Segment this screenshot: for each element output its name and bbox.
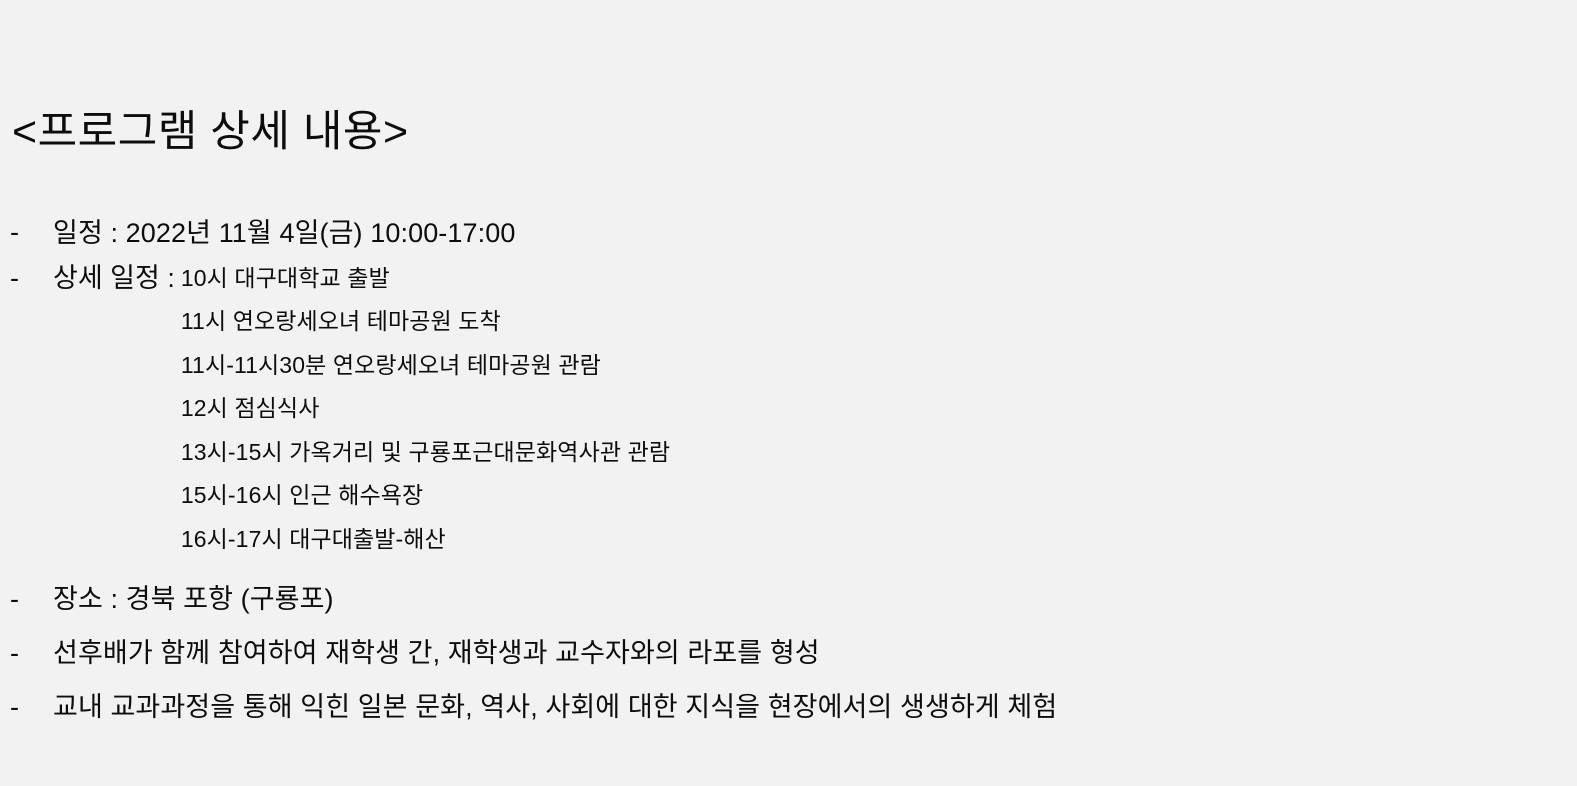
list-item-detail-schedule: - 상세 일정 : 10시 대구대학교 출발 11시 연오랑세오녀 테마공원 도… <box>0 256 1577 561</box>
document-page: <프로그램 상세 내용> - 일정 : 2022년 11월 4일(금) 10:0… <box>0 0 1577 786</box>
list-item: 13시-15시 가옥거리 및 구룡포근대문화역사관 관람 <box>181 431 670 475</box>
program-detail-list: - 일정 : 2022년 11월 4일(금) 10:00-17:00 - 상세 … <box>0 210 1577 734</box>
bullet-dash-icon: - <box>0 680 53 734</box>
list-item-objective-experience: - 교내 교과과정을 통해 익힌 일본 문화, 역사, 사회에 대한 지식을 현… <box>0 680 1577 734</box>
detail-schedule-label: 상세 일정 : <box>53 256 175 300</box>
list-item: 10시 대구대학교 출발 <box>181 256 670 300</box>
list-item: 15시-16시 인근 해수욕장 <box>181 474 670 518</box>
detail-schedule-items: 10시 대구대학교 출발 11시 연오랑세오녀 테마공원 도착 11시-11시3… <box>181 256 670 561</box>
bullet-dash-icon: - <box>0 210 53 254</box>
bullet-dash-icon: - <box>0 256 53 300</box>
objective-text: 선후배가 함께 참여하여 재학생 간, 재학생과 교수자와의 라포를 형성 <box>53 626 820 680</box>
bullet-dash-icon: - <box>0 572 53 626</box>
tail-bullets: - 장소 : 경북 포항 (구룡포) - 선후배가 함께 참여하여 재학생 간,… <box>0 572 1577 734</box>
list-item: 11시 연오랑세오녀 테마공원 도착 <box>181 300 670 344</box>
list-item: 11시-11시30분 연오랑세오녀 테마공원 관람 <box>181 344 670 388</box>
bullet-dash-icon: - <box>0 626 53 680</box>
list-item: 12시 점심식사 <box>181 387 670 431</box>
location-label: 장소 : 경북 포항 (구룡포) <box>53 572 334 626</box>
list-item-schedule: - 일정 : 2022년 11월 4일(금) 10:00-17:00 <box>0 210 1577 256</box>
schedule-label: 일정 : 2022년 11월 4일(금) 10:00-17:00 <box>53 210 515 256</box>
list-item-objective-rapport: - 선후배가 함께 참여하여 재학생 간, 재학생과 교수자와의 라포를 형성 <box>0 626 1577 680</box>
list-item: 16시-17시 대구대출발-해산 <box>181 518 670 562</box>
page-title: <프로그램 상세 내용> <box>12 107 409 159</box>
objective-text: 교내 교과과정을 통해 익힌 일본 문화, 역사, 사회에 대한 지식을 현장에… <box>53 680 1057 734</box>
list-item-location: - 장소 : 경북 포항 (구룡포) <box>0 572 1577 626</box>
